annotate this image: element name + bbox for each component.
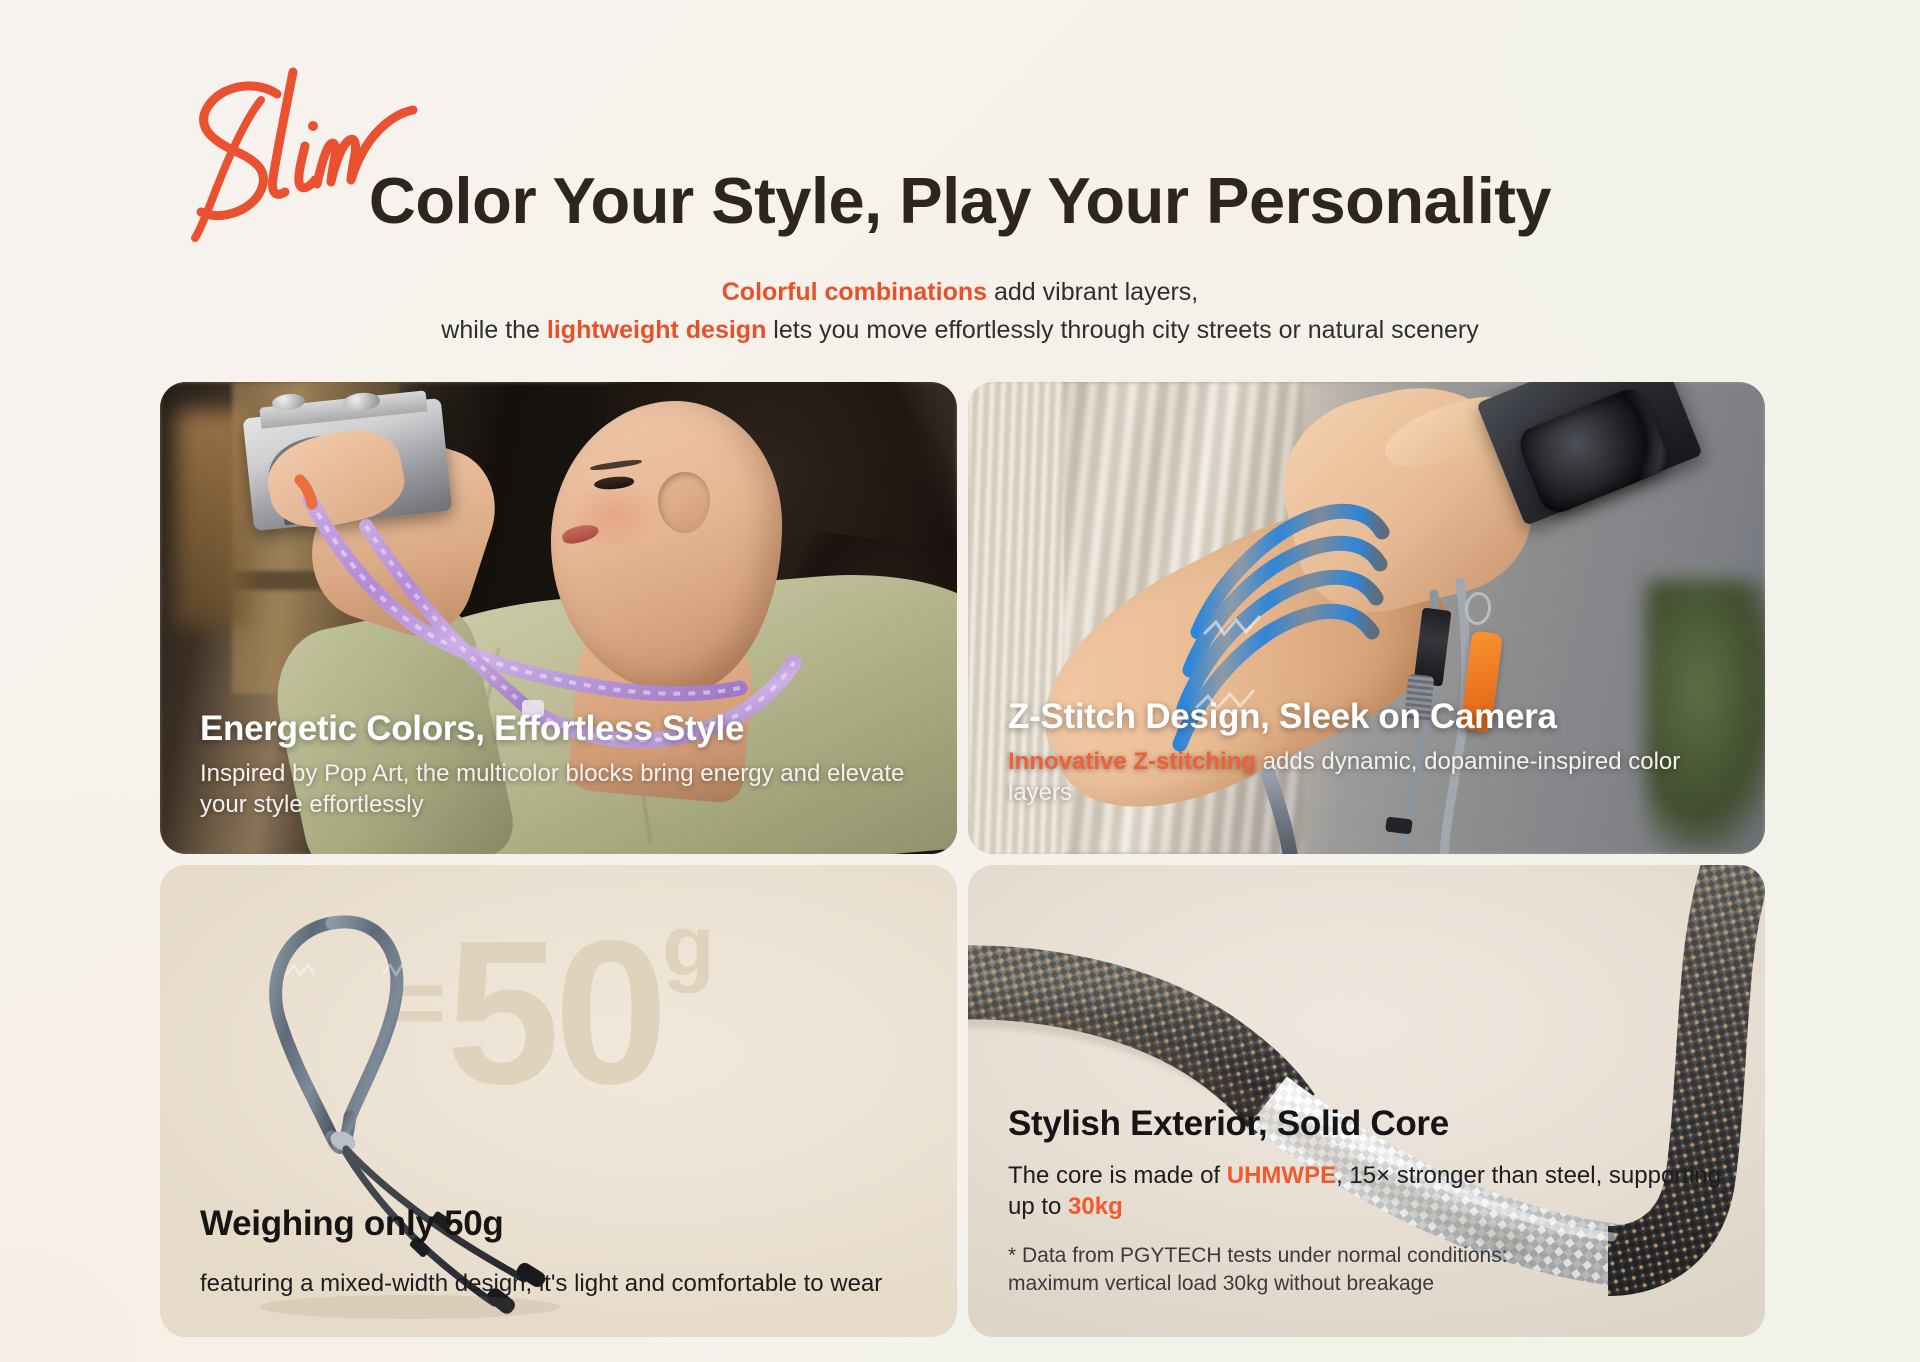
subheading-line-2: while the lightweight design lets you mo… — [0, 314, 1920, 348]
card-solid-core[interactable]: Stylish Exterior, Solid Core The core is… — [968, 865, 1765, 1337]
page-header: Color Your Style, Play Your Personality … — [0, 0, 1920, 360]
card3-title: Weighing only 50g — [200, 1205, 927, 1244]
card4-note-line-1: * Data from PGYTECH tests under normal c… — [1008, 1242, 1735, 1270]
subheading-highlight-2: lightweight design — [547, 316, 766, 344]
card2-body-highlight: Innovative Z-stitching — [1008, 748, 1256, 775]
card4-body-highlight-material: UHMWPE — [1227, 1162, 1336, 1189]
card4-body: The core is made of UHMWPE, 15× stronger… — [1008, 1160, 1735, 1222]
card1-title: Energetic Colors, Effortless Style — [200, 710, 931, 749]
card2-title: Z-Stitch Design, Sleek on Camera — [1008, 698, 1739, 737]
card4-body-pre: The core is made of — [1008, 1162, 1227, 1189]
card3-body: featuring a mixed-width design, it's lig… — [200, 1268, 927, 1299]
card-weight[interactable]: =50g — [160, 865, 957, 1337]
page-title: Color Your Style, Play Your Personality — [0, 168, 1920, 233]
subheading-highlight-1: Colorful combinations — [722, 278, 987, 306]
subheading-rest-2: lets you move effortlessly through city … — [766, 316, 1478, 344]
card3-text-block: Weighing only 50g featuring a mixed-widt… — [200, 1205, 927, 1299]
subheading-rest-1: add vibrant layers, — [987, 278, 1198, 306]
card4-note-line-2: maximum vertical load 30kg without break… — [1008, 1270, 1735, 1298]
page-root: Color Your Style, Play Your Personality … — [0, 0, 1920, 1362]
subheading-line-1: Colorful combinations add vibrant layers… — [0, 276, 1920, 310]
card2-text-block: Z-Stitch Design, Sleek on Camera Innovat… — [1008, 698, 1739, 808]
card4-title: Stylish Exterior, Solid Core — [1008, 1105, 1735, 1144]
subheading-pre-2: while the — [441, 316, 547, 344]
card1-body: Inspired by Pop Art, the multicolor bloc… — [200, 759, 931, 820]
card2-body: Innovative Z-stitching adds dynamic, dop… — [1008, 747, 1739, 808]
card4-body-highlight-load: 30kg — [1068, 1193, 1123, 1220]
card-z-stitch[interactable]: Z-Stitch Design, Sleek on Camera Innovat… — [968, 382, 1765, 854]
card1-text-block: Energetic Colors, Effortless Style Inspi… — [200, 710, 931, 820]
card-energetic-colors[interactable]: Energetic Colors, Effortless Style Inspi… — [160, 382, 957, 854]
feature-card-grid: Energetic Colors, Effortless Style Inspi… — [160, 382, 1765, 1327]
card4-text-block: Stylish Exterior, Solid Core The core is… — [1008, 1105, 1735, 1297]
